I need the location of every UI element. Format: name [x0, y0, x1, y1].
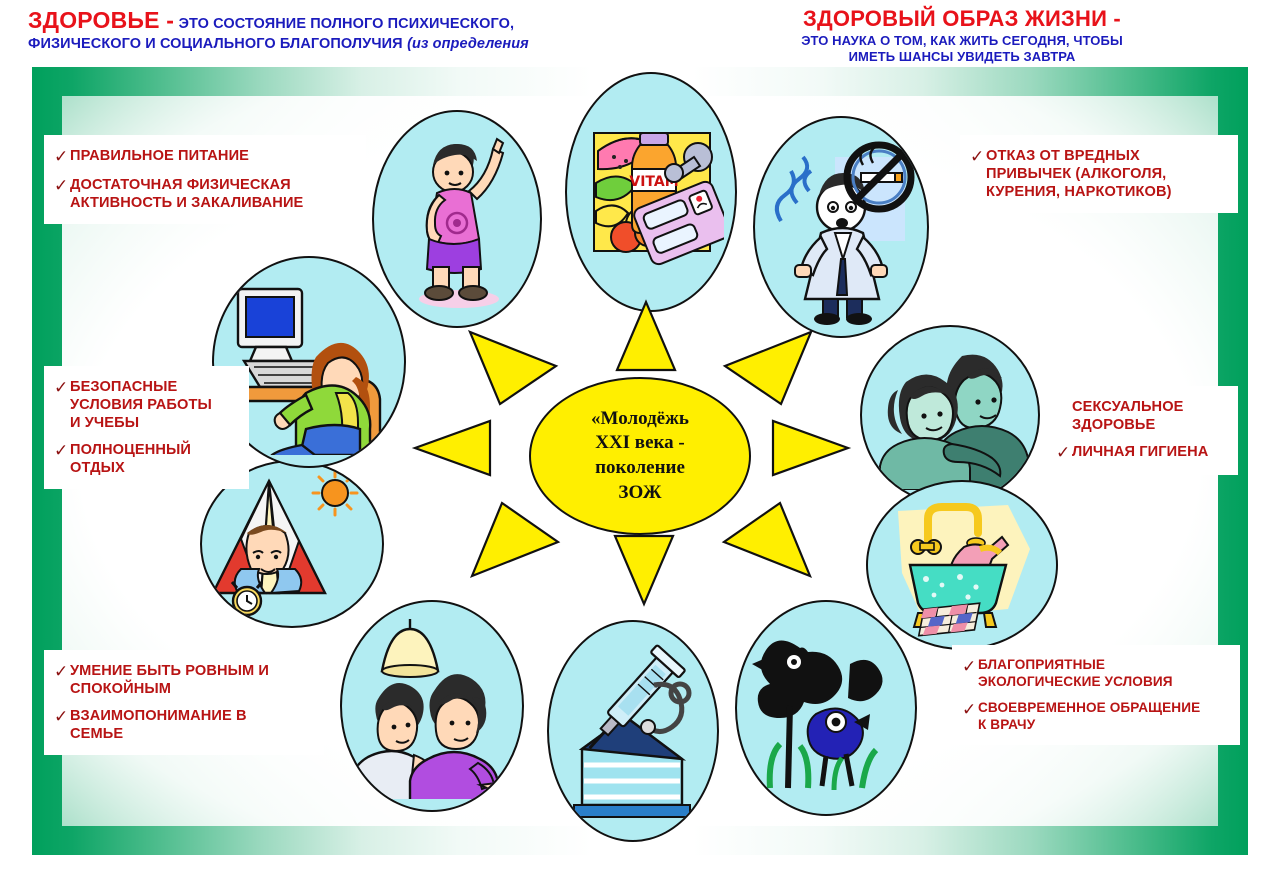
header-health-line1: ЭТО СОСТОЯНИЕ ПОЛНОГО ПСИХИЧЕСКОГО, — [179, 16, 515, 32]
header-lifestyle-line1: ЭТО НАУКА О ТОМ, КАК ЖИТЬ СЕГОДНЯ, ЧТОБЫ — [672, 33, 1252, 49]
no-smoking-man-icon — [763, 129, 919, 325]
header-lifestyle-keyword: ЗДОРОВЫЙ ОБРАЗ ЖИЗНИ - — [672, 6, 1252, 33]
list-item: ✓ СЕКСУАЛЬНОЕ ЗДОРОВЬЕ — [1056, 398, 1224, 434]
list-item: ✓ ПРАВИЛЬНОЕ ПИТАНИЕ — [54, 147, 352, 167]
card-calmness-family: ✓ УМЕНИЕ БЫТЬ РОВНЫМ И СПОКОЙНЫМ ✓ ВЗАИМ… — [44, 650, 324, 755]
triangle-arrow-icon-up-right — [723, 330, 815, 408]
list-item-label: БЕЗОПАСНЫЕ УСЛОВИЯ РАБОТЫ И УЧЕБЫ — [70, 378, 212, 432]
two-people-talking-icon — [348, 613, 516, 799]
card-work-study-rest: ✓ БЕЗОПАСНЫЕ УСЛОВИЯ РАБОТЫ И УЧЕБЫ ✓ ПО… — [44, 366, 249, 489]
stretching-person-icon — [387, 127, 527, 312]
list-item-label: СВОЕВРЕМЕННОЕ ОБРАЩЕНИЕ К ВРАЧУ — [978, 700, 1200, 734]
bathtub-shower-icon — [876, 489, 1048, 641]
check-icon: ✓ — [1056, 443, 1072, 463]
list-item-label: ПОЛНОЦЕННЫЙ ОТДЫХ — [70, 441, 191, 477]
card-sexual-health-hygiene: ✓ СЕКСУАЛЬНОЕ ЗДОРОВЬЕ ✓ ЛИЧНАЯ ГИГИЕНА — [1046, 386, 1238, 475]
poster-root: ЗДОРОВЬЕ - ЭТО СОСТОЯНИЕ ПОЛНОГО ПСИХИЧЕ… — [0, 0, 1280, 876]
triangle-arrow-icon-down-left — [468, 500, 560, 580]
triangle-arrow-icon-right — [770, 418, 850, 478]
list-item-label: ДОСТАТОЧНАЯ ФИЗИЧЕСКАЯ АКТИВНОСТЬ И ЗАКА… — [70, 176, 303, 212]
header-health-line3: (из определения — [407, 36, 529, 52]
triangle-arrow-icon-down-right — [722, 500, 814, 580]
list-item-label: ВЗАИМОПОНИМАНИЕ В СЕМЬЕ — [70, 707, 247, 743]
bubble-exercise — [372, 110, 542, 328]
check-icon: ✓ — [54, 441, 70, 461]
list-item: ✓ ОТКАЗ ОТ ВРЕДНЫХ ПРИВЫЧЕК (АЛКОГОЛЯ, К… — [970, 147, 1224, 201]
check-icon: ✓ — [54, 707, 70, 727]
list-item: ✓ БЕЗОПАСНЫЕ УСЛОВИЯ РАБОТЫ И УЧЕБЫ — [54, 378, 235, 432]
list-item-label: СЕКСУАЛЬНОЕ ЗДОРОВЬЕ — [1072, 398, 1184, 434]
list-item-label: ПРАВИЛЬНОЕ ПИТАНИЕ — [70, 147, 249, 165]
header-lifestyle: ЗДОРОВЫЙ ОБРАЗ ЖИЗНИ - ЭТО НАУКА О ТОМ, … — [672, 6, 1252, 65]
triangle-arrow-icon-up-left — [466, 330, 558, 408]
bubble-nutrition: VITAM — [565, 72, 737, 312]
check-icon: ✓ — [54, 147, 70, 167]
center-ellipse: «Молодёжь XXI века - поколение ЗОЖ — [529, 377, 751, 535]
list-item-label: ОТКАЗ ОТ ВРЕДНЫХ ПРИВЫЧЕК (АЛКОГОЛЯ, КУР… — [986, 147, 1172, 201]
check-icon: ✓ — [970, 147, 986, 167]
list-item-label: БЛАГОПРИЯТНЫЕ ЭКОЛОГИЧЕСКИЕ УСЛОВИЯ — [978, 657, 1173, 691]
list-item-label: УМЕНИЕ БЫТЬ РОВНЫМ И СПОКОЙНЫМ — [70, 662, 269, 698]
embracing-couple-icon — [868, 340, 1032, 490]
bubble-ecology — [735, 600, 917, 816]
card-no-bad-habits: ✓ ОТКАЗ ОТ ВРЕДНЫХ ПРИВЫЧЕК (АЛКОГОЛЯ, К… — [960, 135, 1238, 213]
header-health-line2: ФИЗИЧЕСКОГО И СОЦИАЛЬНОГО БЛАГОПОЛУЧИЯ — [28, 36, 403, 52]
healthy-food-vitamins-icon: VITAM — [578, 107, 724, 277]
header-health: ЗДОРОВЬЕ - ЭТО СОСТОЯНИЕ ПОЛНОГО ПСИХИЧЕ… — [28, 6, 628, 54]
bubble-hygiene — [866, 480, 1058, 650]
camping-tent-sun-icon — [207, 469, 377, 619]
triangle-arrow-icon-up — [615, 300, 677, 372]
list-item: ✓ ВЗАИМОПОНИМАНИЕ В СЕМЬЕ — [54, 707, 310, 743]
list-item-label: ЛИЧНАЯ ГИГИЕНА — [1072, 443, 1208, 461]
list-item: ✓ УМЕНИЕ БЫТЬ РОВНЫМ И СПОКОЙНЫМ — [54, 662, 310, 698]
bubble-family-talk — [340, 600, 524, 812]
list-item: ✓ ДОСТАТОЧНАЯ ФИЗИЧЕСКАЯ АКТИВНОСТЬ И ЗА… — [54, 176, 352, 212]
card-ecology-doctor: ✓ БЛАГОПРИЯТНЫЕ ЭКОЛОГИЧЕСКИЕ УСЛОВИЯ ✓ … — [952, 645, 1240, 745]
check-icon: ✓ — [54, 378, 70, 398]
bubble-no-smoking — [753, 116, 929, 338]
card-nutrition-activity: ✓ ПРАВИЛЬНОЕ ПИТАНИЕ ✓ ДОСТАТОЧНАЯ ФИЗИЧ… — [44, 135, 366, 224]
header-lifestyle-line2: ИМЕТЬ ШАНСЫ УВИДЕТЬ ЗАВТРА — [672, 49, 1252, 65]
list-item: ✓ БЛАГОПРИЯТНЫЕ ЭКОЛОГИЧЕСКИЕ УСЛОВИЯ — [962, 657, 1226, 691]
list-item: ✓ СВОЕВРЕМЕННОЕ ОБРАЩЕНИЕ К ВРАЧУ — [962, 700, 1226, 734]
birds-nature-icon — [750, 618, 902, 798]
list-item: ✓ ПОЛНОЦЕННЫЙ ОТДЫХ — [54, 441, 235, 477]
syringe-stethoscope-icon — [558, 641, 708, 821]
header-health-keyword: ЗДОРОВЬЕ - — [28, 7, 174, 33]
check-icon: ✓ — [54, 176, 70, 196]
triangle-arrow-icon-down — [613, 534, 675, 606]
triangle-arrow-icon-left — [413, 418, 493, 478]
center-title: «Молодёжь XXI века - поколение ЗОЖ — [591, 407, 689, 506]
bubble-medical-care — [547, 620, 719, 842]
check-icon: ✓ — [962, 657, 978, 677]
check-icon: ✓ — [54, 662, 70, 682]
check-icon: ✓ — [962, 700, 978, 720]
bubble-relationship — [860, 325, 1040, 505]
list-item: ✓ ЛИЧНАЯ ГИГИЕНА — [1056, 443, 1224, 463]
